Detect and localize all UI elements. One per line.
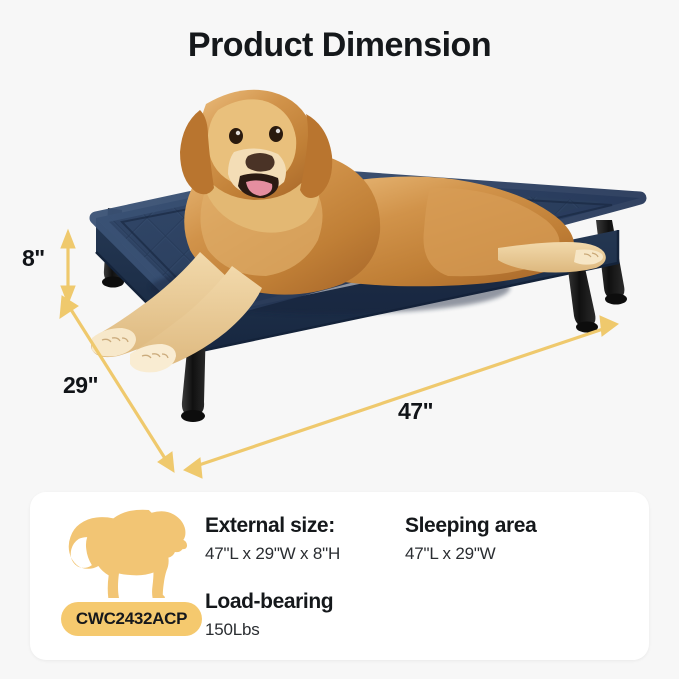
spec-card: CWC2432ACP External size: 47"L x 29"W x … (30, 492, 649, 660)
spec-column-secondary: Sleeping area 47"L x 29"W (405, 492, 635, 564)
dog-silhouette-icon (62, 506, 202, 598)
sku-badge: CWC2432ACP (61, 602, 202, 636)
sku-block: CWC2432ACP (30, 492, 205, 636)
infographic-stage: Product Dimension (0, 0, 679, 679)
external-size-label: External size: (205, 514, 405, 538)
height-label: 8" (22, 245, 45, 272)
height-arrow (61, 230, 75, 304)
page-title: Product Dimension (0, 26, 679, 65)
spec-column-primary: External size: 47"L x 29"W x 8"H Load-be… (205, 492, 405, 640)
load-bearing-label: Load-bearing (205, 590, 405, 614)
external-size-value: 47"L x 29"W x 8"H (205, 544, 405, 564)
sleeping-area-value: 47"L x 29"W (405, 544, 635, 564)
width-label: 29" (63, 372, 98, 399)
length-label: 47" (398, 398, 433, 425)
product-illustration (0, 70, 679, 490)
load-bearing-value: 150Lbs (205, 620, 405, 640)
sleeping-area-label: Sleeping area (405, 514, 635, 538)
